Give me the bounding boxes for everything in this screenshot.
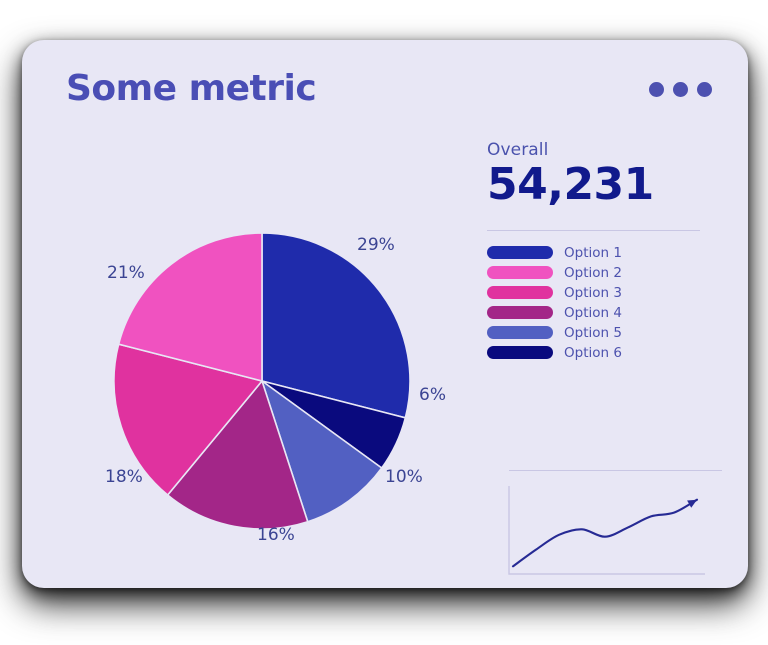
legend-label: Option 5 xyxy=(564,325,622,341)
trend-divider xyxy=(509,470,722,471)
trend-chart-svg xyxy=(499,482,713,580)
legend-swatch xyxy=(487,246,553,259)
legend-swatch xyxy=(487,346,553,359)
legend-swatch xyxy=(487,266,553,279)
legend-item[interactable]: Option 4 xyxy=(487,305,723,320)
legend-label: Option 1 xyxy=(564,245,622,261)
trend-axes xyxy=(509,486,705,574)
pie-chart: 29% 21% 18% 16% 10% 6% xyxy=(62,160,462,570)
pie-label-option-1: 29% xyxy=(357,235,395,255)
legend-label: Option 4 xyxy=(564,305,622,321)
legend-item[interactable]: Option 3 xyxy=(487,285,723,300)
legend-item[interactable]: Option 1 xyxy=(487,245,723,260)
summary-panel: Overall 54,231 Option 1Option 2Option 3O… xyxy=(487,140,723,360)
kebab-dot-3 xyxy=(697,82,712,97)
overall-label: Overall xyxy=(487,140,723,160)
kebab-menu-icon[interactable] xyxy=(649,82,712,97)
pie-label-option-5: 10% xyxy=(385,467,423,487)
metric-card: Some metric 29% 21% 18% 16% 10% 6% Overa… xyxy=(22,40,748,588)
chart-legend: Option 1Option 2Option 3Option 4Option 5… xyxy=(487,245,723,360)
pie-slice-group xyxy=(114,233,410,529)
trend-line-path xyxy=(513,500,697,567)
legend-swatch xyxy=(487,286,553,299)
pie-label-option-4: 16% xyxy=(257,525,295,545)
pie-label-option-6: 6% xyxy=(419,385,446,405)
legend-label: Option 3 xyxy=(564,285,622,301)
pie-label-option-3: 18% xyxy=(105,467,143,487)
kebab-dot-2 xyxy=(673,82,688,97)
overall-value: 54,231 xyxy=(487,162,723,208)
pie-chart-svg xyxy=(62,160,462,570)
summary-divider xyxy=(487,230,700,231)
page-title: Some metric xyxy=(66,68,316,109)
kebab-dot-1 xyxy=(649,82,664,97)
legend-label: Option 2 xyxy=(564,265,622,281)
legend-swatch xyxy=(487,306,553,319)
legend-swatch xyxy=(487,326,553,339)
legend-item[interactable]: Option 5 xyxy=(487,325,723,340)
legend-item[interactable]: Option 2 xyxy=(487,265,723,280)
trend-chart xyxy=(487,460,723,585)
legend-label: Option 6 xyxy=(564,345,622,361)
legend-item[interactable]: Option 6 xyxy=(487,345,723,360)
pie-label-option-2: 21% xyxy=(107,263,145,283)
screenshot-stage: Some metric 29% 21% 18% 16% 10% 6% Overa… xyxy=(0,0,768,645)
